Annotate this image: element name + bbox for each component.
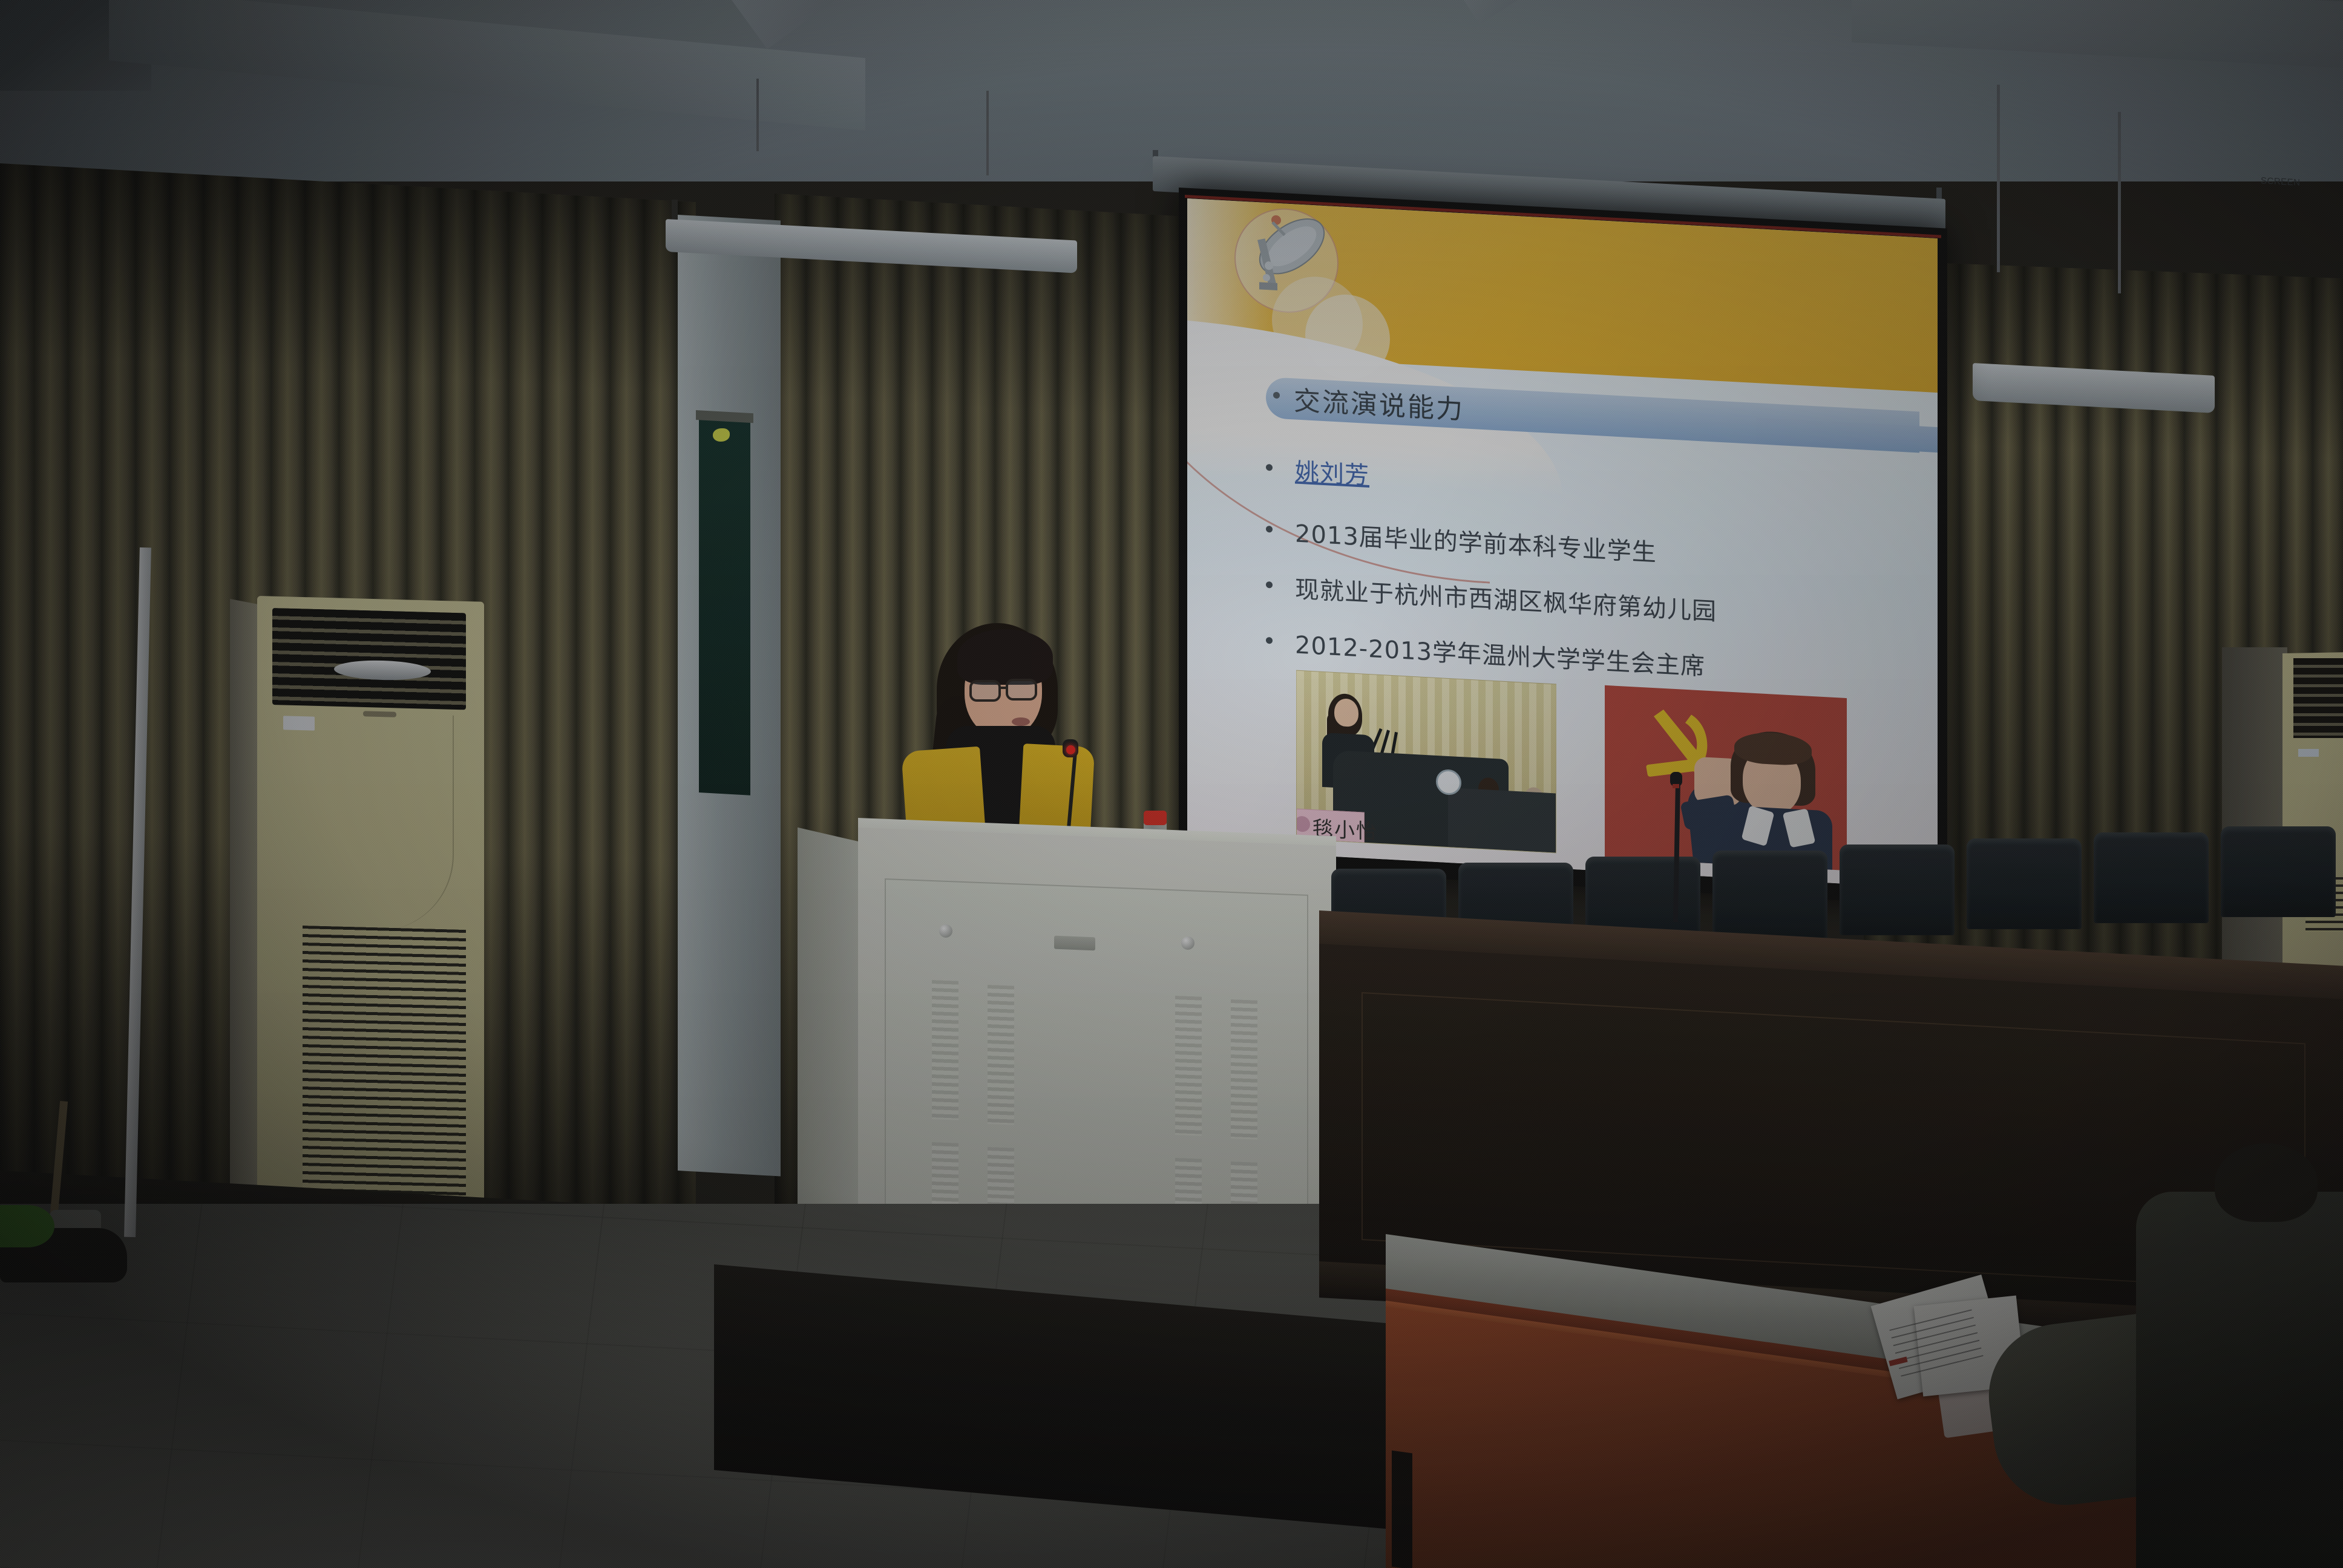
chair[interactable] [1967,838,2082,929]
air-conditioner-louver [2293,658,2343,738]
photo-podium-front [1448,788,1556,854]
satellite-dish-icon [1245,206,1342,312]
foreground-desk-leg [1392,1451,1412,1568]
slide-photo-podium: 毯小怡 [1296,670,1556,854]
air-conditioner-curve-detail [333,712,454,933]
lectern-lock[interactable] [1181,936,1194,950]
foreground-person-torso [2136,1192,2343,1568]
lectern-vent [988,985,1014,1125]
chair[interactable] [1712,851,1827,941]
ceiling-light-rod [2118,112,2121,293]
glasses-icon [969,680,1001,702]
lectern-lock[interactable] [939,924,952,938]
chair[interactable] [2221,826,2336,917]
green-object[interactable] [0,1205,54,1247]
lectern-handle[interactable] [1054,936,1095,951]
ceiling-light-rod [756,79,759,151]
sticky-note-icon [713,428,730,442]
air-conditioner-grille [303,926,466,1226]
dais-microphone-led [1673,784,1679,788]
lectern-vent [932,980,958,1120]
glasses-bridge-icon [1000,687,1008,689]
microphone-led-indicator [1066,745,1075,754]
bullet-dot-icon [1266,581,1273,589]
presenter-mouth [1012,717,1030,726]
ceiling-light-rod [986,91,989,175]
air-conditioner-louver [272,608,466,710]
bullet-dot-icon [1266,464,1273,471]
water-bottle-cap[interactable] [1144,811,1167,825]
glasses-icon [1006,679,1037,701]
lectern-vent [1231,999,1257,1140]
air-conditioner-badge [283,716,315,730]
lectern-vent [1175,996,1202,1136]
chair[interactable] [2094,832,2209,923]
slide-bullet-text[interactable]: 姚刘芳 [1295,452,1369,491]
lecture-hall-photo: SCREEN 交流演说能力 姚刘芳 20 [0,0,2343,1568]
slide-photo-flag [1605,685,1847,871]
slide-title-bullet-icon [1273,392,1280,399]
presenter-fringe [957,629,1053,685]
air-conditioner-badge [2298,749,2319,757]
ceiling-light-rod [1997,85,2000,272]
bullet-dot-icon [1266,526,1273,533]
projected-slide: 交流演说能力 姚刘芳 2013届毕业的学前本科专业学生 现就业于杭州市西湖区枫华… [1187,198,1938,889]
chair[interactable] [1840,844,1955,935]
foreground-person-head [2215,1143,2318,1222]
screen-brand-label: SCREEN [2261,175,2301,188]
bullet-dot-icon [1266,637,1273,644]
chalkboard [699,417,750,795]
